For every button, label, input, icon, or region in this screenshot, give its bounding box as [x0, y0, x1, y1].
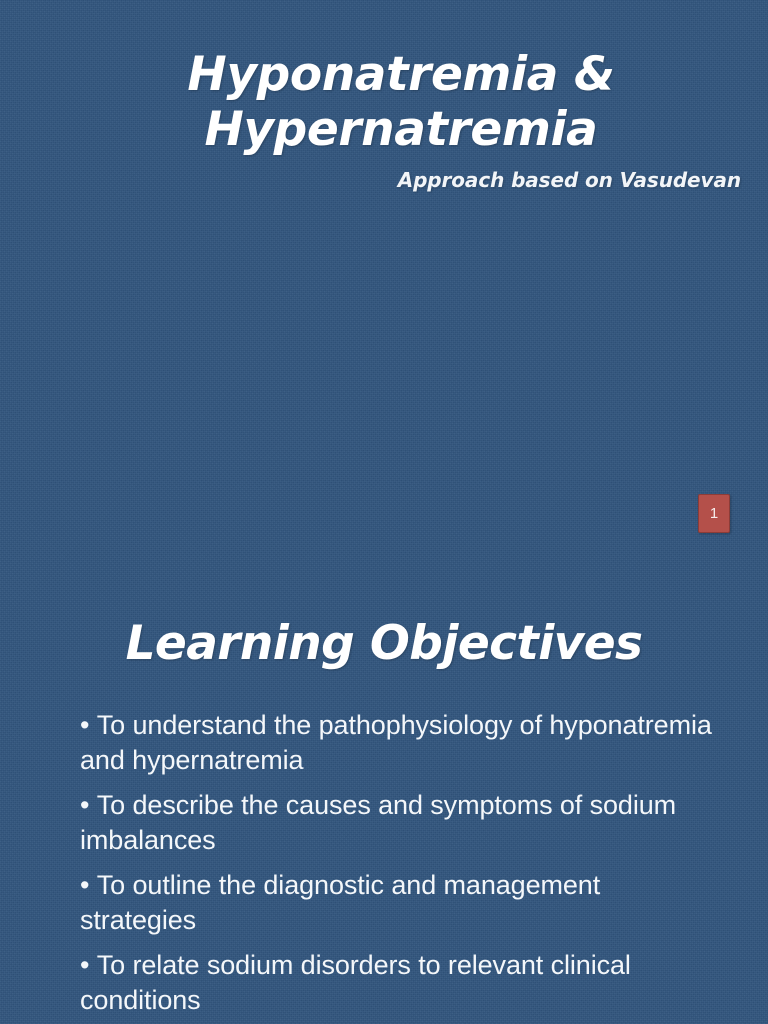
- list-item: To understand the pathophysiology of hyp…: [80, 708, 720, 777]
- presentation-subtitle: Approach based on Vasudevan: [60, 168, 741, 192]
- section-heading: Learning Objectives: [40, 616, 728, 671]
- learning-objectives-list: To understand the pathophysiology of hyp…: [80, 708, 720, 1024]
- page-number-badge: 1: [698, 494, 730, 533]
- title-block: Hyponatremia & Hypernatremia: [60, 47, 742, 158]
- list-item: To relate sodium disorders to relevant c…: [80, 948, 720, 1017]
- slide-deck: Hyponatremia & Hypernatremia Approach ba…: [0, 0, 768, 1024]
- list-item: To describe the causes and symptoms of s…: [80, 788, 720, 857]
- learning-objectives-slide: Learning Objectives To understand the pa…: [0, 576, 768, 1024]
- list-item: To outline the diagnostic and management…: [80, 868, 720, 937]
- title-slide: Hyponatremia & Hypernatremia Approach ba…: [0, 0, 768, 576]
- page-title: Hyponatremia & Hypernatremia: [60, 47, 742, 158]
